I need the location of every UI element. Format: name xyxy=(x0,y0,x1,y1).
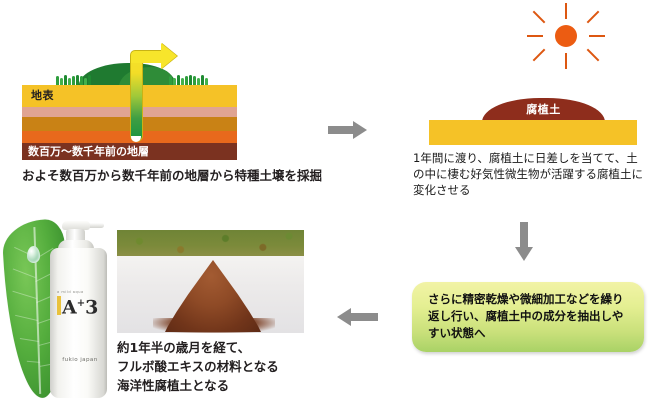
sun-ray-w xyxy=(527,35,543,37)
sun-ray-nw xyxy=(533,11,546,24)
step-4-caption: 約1年半の歳月を経て、フルボ酸エキスの材料となる海洋性腐植土となる xyxy=(117,338,332,395)
dewdrop-icon xyxy=(27,246,40,263)
arrow-head xyxy=(337,308,351,326)
sun-ray-s xyxy=(565,53,567,69)
sun-ray-se xyxy=(587,49,600,62)
product-bottle xyxy=(50,248,107,398)
arrow-head xyxy=(515,247,533,261)
humus-base-slab xyxy=(429,120,637,145)
bottle-brand: fukio japan xyxy=(57,357,103,363)
arrow-shaft xyxy=(351,313,378,321)
humus-mound-label: 腐植土 xyxy=(482,101,605,117)
soil-pile-photo xyxy=(117,230,304,333)
infographic-canvas: 地表 数百万～数千年前の地層 およそ数百万から数千年前の地層から特種土壌を採掘 xyxy=(0,0,650,400)
sun-ray-ne xyxy=(587,11,600,24)
arrow-step3-to-step4 xyxy=(337,308,378,326)
sun-ray-sw xyxy=(533,49,546,62)
bottle-accent-bar xyxy=(57,296,61,315)
bottle-logo-letter: A xyxy=(62,296,77,318)
bottle-logo: A+3 xyxy=(62,294,98,317)
step-2-sun-exposure: 腐植土 1年間に渡り、腐植土に日差しを当てて、土の中に棲む好気性微生物が活躍する… xyxy=(0,0,650,215)
arrow-shaft xyxy=(520,222,528,248)
step-3-caption: さらに精密乾燥や微細加工などを繰り返し行い、腐植土中の成分を抽出しやすい状態へ xyxy=(428,291,634,342)
bottle-logo-sup: + xyxy=(77,298,85,309)
arrow-step2-to-step3 xyxy=(515,222,533,262)
sun-ray-n xyxy=(565,3,567,19)
step-2-caption: 1年間に渡り、腐植土に日差しを当てて、土の中に棲む好気性微生物が活躍する腐植土に… xyxy=(413,150,648,198)
step-4-final-product: a mild aqua A+3 fukio japan 約1年半の歳月を経て、フ… xyxy=(0,210,330,400)
step-3-processing-box: さらに精密乾燥や微細加工などを繰り返し行い、腐植土中の成分を抽出しやすい状態へ xyxy=(412,282,644,352)
bottle-logo-number: 3 xyxy=(85,296,98,318)
photo-grass-background xyxy=(117,230,304,258)
sun-ray-e xyxy=(589,35,605,37)
sun-core xyxy=(555,25,577,47)
